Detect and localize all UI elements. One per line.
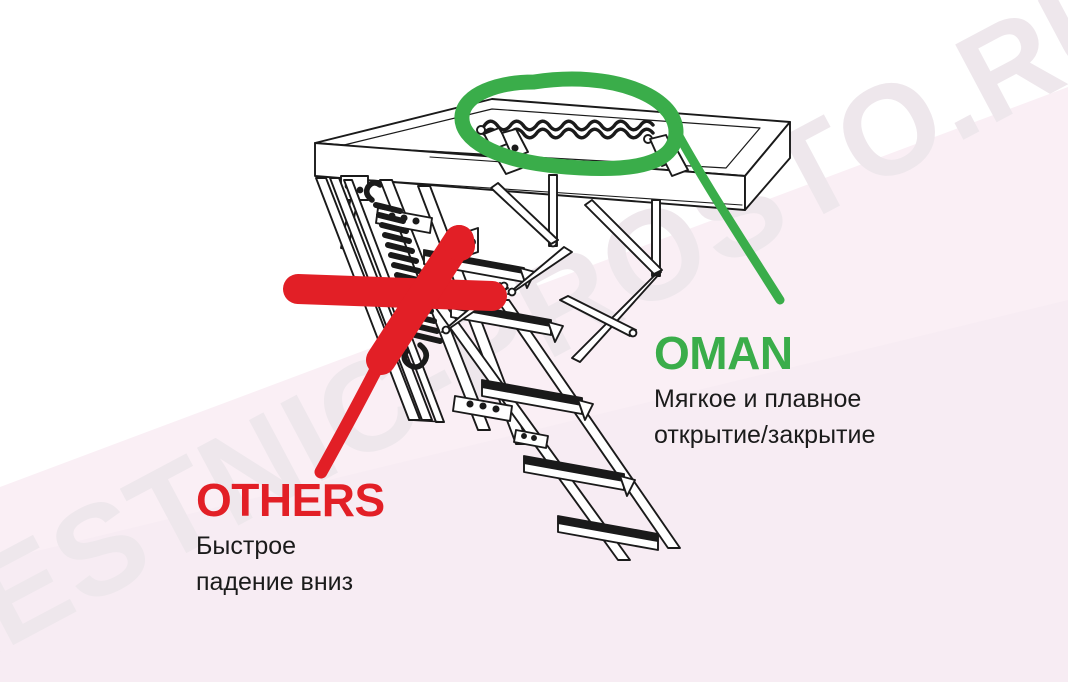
oman-description-line-1: Мягкое и плавное xyxy=(654,382,875,418)
red-annotation xyxy=(298,240,492,472)
others-title: OTHERS xyxy=(196,477,385,523)
red-arrow-stroke-horizontal xyxy=(298,289,492,296)
green-annotation xyxy=(462,79,780,300)
others-description-line-2: падение вниз xyxy=(196,565,385,601)
oman-title: OMAN xyxy=(654,330,875,376)
promo-image-canvas: LESTNIC-PROSTO.RU xyxy=(0,0,1068,682)
oman-description-line-2: открытие/закрытие xyxy=(654,418,875,454)
callout-oman: OMAN Мягкое и плавное открытие/закрытие xyxy=(654,330,875,453)
callout-others: OTHERS Быстрое падение вниз xyxy=(196,477,385,600)
green-leader-line xyxy=(666,112,780,300)
green-ellipse-highlight xyxy=(462,79,676,169)
others-description-line-1: Быстрое xyxy=(196,529,385,565)
marker-annotations-layer xyxy=(0,0,1068,682)
red-arrow-tip xyxy=(459,240,460,246)
